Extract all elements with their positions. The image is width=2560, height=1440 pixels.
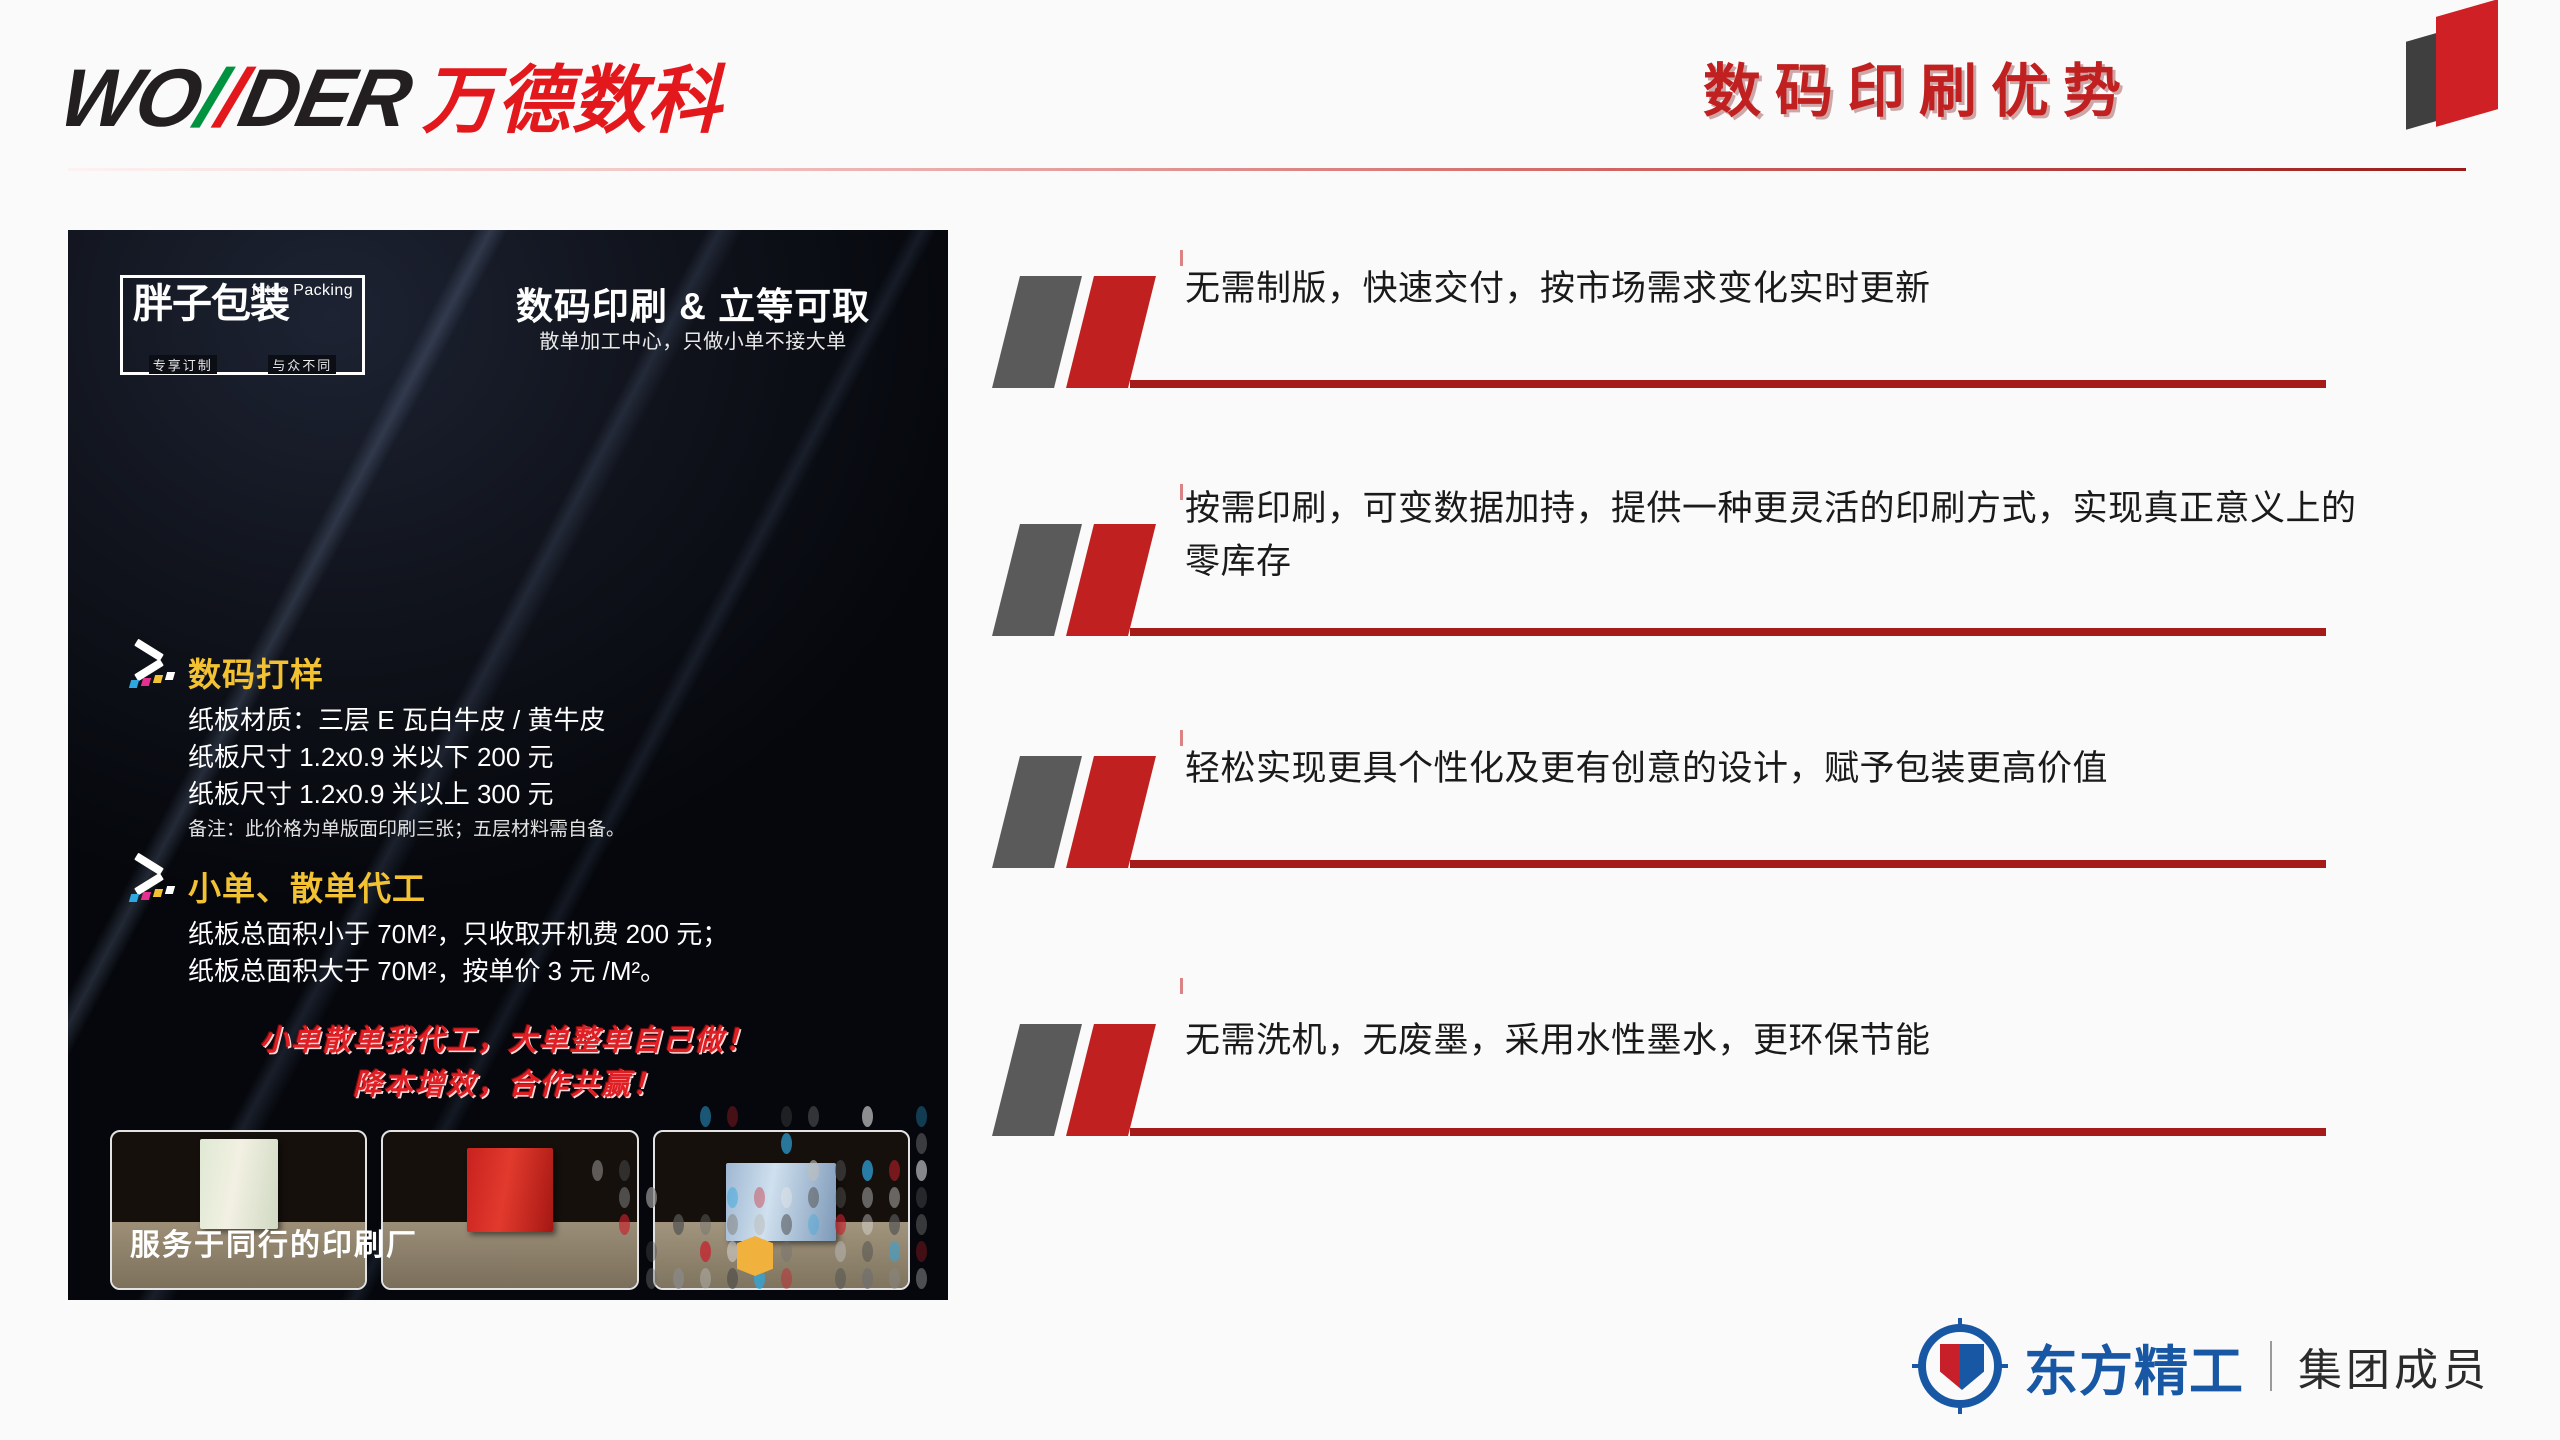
dot-matrix-dot (754, 1214, 765, 1235)
section-1-line-3: 纸板尺寸 1.2x0.9 米以上 300 元 (188, 776, 625, 813)
cmyk-dot-white (165, 672, 175, 680)
poster-section-small-orders: 小单、散单代工 纸板总面积小于 70M²，只收取开机费 200 元； 纸板总面积… (130, 862, 728, 990)
dot-matrix-dot (808, 1187, 819, 1208)
dot-matrix-dot (916, 1160, 927, 1181)
bullet-underline-4 (1130, 1128, 2326, 1136)
chevron-cmyk-icon (128, 644, 184, 696)
product-photo-honey-box (110, 1130, 367, 1290)
crosshair-tick-right (1994, 1364, 2008, 1368)
dot-matrix-dot (808, 1160, 819, 1181)
cmyk-dot-magenta-2 (141, 892, 151, 900)
tick-mark-3 (1180, 730, 1183, 746)
dot-matrix-dot (862, 1268, 873, 1289)
poster-subheadline: 散单加工中心，只做小单不接大单 (468, 325, 918, 354)
page-header: W O // DER 万德数科 数码印刷优势 (0, 0, 2560, 175)
footer-corporate-logo: 东方精工 集团成员 (1918, 1318, 2490, 1414)
dot-matrix-dot (889, 1268, 900, 1289)
bullet-gray-bar-2 (992, 524, 1082, 636)
cmyk-dot-white-2 (165, 886, 175, 894)
poster-slogan: 小单散单我代工，大单整单自己做！ 降本增效，合作共赢！ (68, 1020, 948, 1107)
dot-matrix-dot (889, 1214, 900, 1235)
dongfang-shield-icon (1940, 1344, 1984, 1390)
bullet-gray-bar-4 (992, 1024, 1082, 1136)
dot-matrix-dot (916, 1133, 927, 1154)
dot-matrix-dot (862, 1214, 873, 1235)
dongfang-crosshair-icon (1918, 1324, 2002, 1408)
section-1-title-text: 数码打样 (188, 656, 324, 693)
dot-matrix-dot (781, 1214, 792, 1235)
dot-matrix-dot (781, 1133, 792, 1154)
dot-matrix-dot (862, 1187, 873, 1208)
advantage-text-1: 无需制版，快速交付，按市场需求变化实时更新 (1185, 262, 2365, 315)
dot-matrix-dot (592, 1160, 603, 1181)
dot-matrix-accent-icon (737, 1236, 773, 1276)
dot-matrix-dot (781, 1241, 792, 1262)
photo-box-shape (200, 1139, 278, 1229)
dot-matrix-dot (754, 1187, 765, 1208)
dot-matrix-dot (889, 1160, 900, 1181)
dot-matrix-dot (835, 1187, 846, 1208)
dot-matrix-dot (727, 1106, 738, 1127)
advantage-item-4: 无需洗机，无废墨，采用水性墨水，更环保节能 (1000, 970, 2420, 1210)
bullet-gray-bar-1 (992, 276, 1082, 388)
advantage-text-4: 无需洗机，无废墨，采用水性墨水，更环保节能 (1185, 1014, 2365, 1067)
dot-matrix-dot (619, 1214, 630, 1235)
advantage-text-3: 轻松实现更具个性化及更有创意的设计，赋予包装更高价值 (1185, 742, 2365, 795)
bullet-marker-3 (1000, 756, 1170, 868)
poster-footer-text: 服务于同行的印刷厂 (130, 1220, 418, 1264)
photo-box-shape (467, 1148, 553, 1232)
header-divider (68, 168, 2466, 171)
bullet-red-bar-3 (1066, 756, 1156, 868)
cmyk-dot-magenta (141, 678, 151, 686)
page-title: 数码印刷优势 (1703, 44, 2135, 128)
wonder-wordmark: W O // DER (62, 58, 408, 140)
fatso-tagline-right: 与众不同 (268, 355, 336, 374)
dot-matrix-dot (862, 1106, 873, 1127)
section-1-note: 备注：此价格为单版面印刷三张；五层材料需自备。 (188, 817, 625, 844)
dot-matrix-dot (673, 1214, 684, 1235)
fatso-logo-english: fatso Packing (252, 282, 353, 300)
fatso-logo: 胖子包装 fatso Packing 专享订制 与众不同 (120, 275, 365, 375)
corner-ribbon-icon (2406, 8, 2498, 124)
tick-mark-1 (1180, 250, 1183, 266)
advantage-text-2: 按需印刷，可变数据加持，提供一种更灵活的印刷方式，实现真正意义上的零库存 (1185, 482, 2365, 588)
poster-headline: 数码印刷 & 立等可取 (468, 276, 918, 330)
dot-matrix-dot (862, 1160, 873, 1181)
dot-matrix-dot (781, 1106, 792, 1127)
bullet-marker-4 (1000, 1024, 1170, 1136)
bullet-underline-3 (1130, 860, 2326, 868)
poster-section-digital-proofing: 数码打样 纸板材质：三层 E 瓦白牛皮 / 黄牛皮 纸板尺寸 1.2x0.9 米… (130, 648, 625, 843)
bullet-red-bar-2 (1066, 524, 1156, 636)
dot-matrix-dot (727, 1187, 738, 1208)
dot-matrix-dot (916, 1214, 927, 1235)
cmyk-dot-yellow (153, 675, 163, 683)
dot-matrix-dot (700, 1214, 711, 1235)
dot-matrix-dot (889, 1241, 900, 1262)
section-2-line-2: 纸板总面积大于 70M²，按单价 3 元 /M²。 (188, 953, 728, 990)
chevron-cmyk-icon-2 (128, 858, 184, 910)
cmyk-dot-cyan (129, 680, 139, 688)
dot-matrix-dot (835, 1241, 846, 1262)
section-2-title: 小单、散单代工 (188, 862, 728, 910)
advantages-list: 无需制版，快速交付，按市场需求变化实时更新 按需印刷，可变数据加持，提供一种更灵… (1000, 250, 2420, 1210)
crosshair-tick-top (1958, 1318, 1962, 1332)
dot-matrix-dot (781, 1187, 792, 1208)
section-2-title-text: 小单、散单代工 (188, 870, 426, 907)
bullet-red-bar-1 (1066, 276, 1156, 388)
dot-matrix-dot (727, 1214, 738, 1235)
dot-matrix-dot (727, 1241, 738, 1262)
dot-matrix-dot (700, 1106, 711, 1127)
bullet-underline-1 (1130, 380, 2326, 388)
dot-matrix-dot (916, 1187, 927, 1208)
advantage-item-3: 轻松实现更具个性化及更有创意的设计，赋予包装更高价值 (1000, 730, 2420, 970)
dot-matrix-dot (646, 1268, 657, 1289)
cmyk-dot-yellow-2 (153, 889, 163, 897)
dot-matrix-dot (619, 1187, 630, 1208)
cmyk-dot-cyan-2 (129, 894, 139, 902)
advantage-item-2: 按需印刷，可变数据加持，提供一种更灵活的印刷方式，实现真正意义上的零库存 (1000, 490, 2420, 730)
section-2-line-1: 纸板总面积小于 70M²，只收取开机费 200 元； (188, 916, 728, 953)
fatso-logo-tagline: 专享订制 与众不同 (123, 355, 362, 374)
dot-matrix-dot (673, 1268, 684, 1289)
crosshair-tick-bottom (1958, 1400, 1962, 1414)
tick-mark-4 (1180, 978, 1183, 994)
dot-matrix-dot (835, 1160, 846, 1181)
bullet-underline-2 (1130, 628, 2326, 636)
bullet-marker-2 (1000, 524, 1170, 636)
dot-matrix-dot (862, 1241, 873, 1262)
dot-matrix-dot (835, 1268, 846, 1289)
crosshair-tick-left (1912, 1364, 1926, 1368)
dot-matrix-dot (889, 1187, 900, 1208)
corner-ribbon-red-panel (2436, 0, 2498, 127)
dot-matrix-dot (916, 1268, 927, 1289)
dot-matrix-dot (727, 1268, 738, 1289)
dot-matrix-dot (700, 1241, 711, 1262)
poster-slogan-line-1: 小单散单我代工，大单整单自己做！ (68, 1020, 948, 1064)
wonder-chinese-name: 万德数科 (422, 64, 722, 138)
bullet-red-bar-4 (1066, 1024, 1156, 1136)
section-1-line-1: 纸板材质：三层 E 瓦白牛皮 / 黄牛皮 (188, 702, 625, 739)
promo-poster: 胖子包装 fatso Packing 专享订制 与众不同 数码印刷 & 立等可取… (68, 230, 948, 1300)
bullet-gray-bar-3 (992, 756, 1082, 868)
dot-matrix-dot (916, 1241, 927, 1262)
dot-matrix-dot (808, 1214, 819, 1235)
footer-divider (2270, 1341, 2272, 1391)
wonder-brand-logo: W O // DER 万德数科 (62, 58, 722, 136)
dot-matrix-dot (700, 1268, 711, 1289)
fatso-tagline-left: 专享订制 (149, 355, 217, 374)
dot-matrix-dot (781, 1268, 792, 1289)
dot-matrix-dot (808, 1106, 819, 1127)
footer-member-label: 集团成员 (2298, 1334, 2490, 1398)
dot-matrix-dot (619, 1160, 630, 1181)
dot-matrix-dot (646, 1241, 657, 1262)
bullet-marker-1 (1000, 276, 1170, 388)
wonder-letters-der: DER (232, 58, 417, 140)
advantage-item-1: 无需制版，快速交付，按市场需求变化实时更新 (1000, 250, 2420, 490)
dot-matrix-dot (646, 1187, 657, 1208)
dot-matrix-dot (835, 1214, 846, 1235)
dot-matrix-dot (916, 1106, 927, 1127)
footer-company-name: 东方精工 (2024, 1327, 2244, 1406)
section-1-title: 数码打样 (188, 648, 625, 696)
section-1-line-2: 纸板尺寸 1.2x0.9 米以下 200 元 (188, 739, 625, 776)
tick-mark-2 (1180, 484, 1183, 500)
